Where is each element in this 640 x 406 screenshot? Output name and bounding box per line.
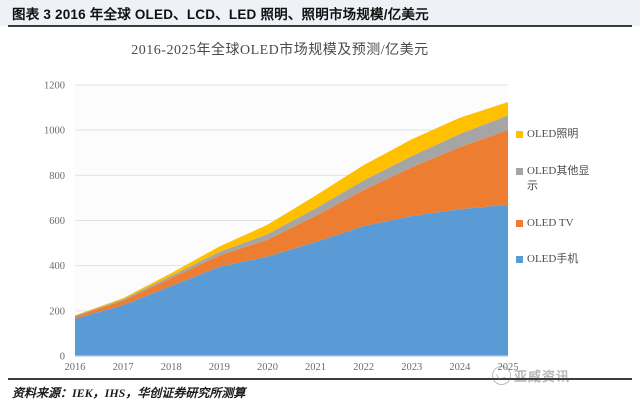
watermark-label: 亚威资讯 <box>514 366 570 385</box>
svg-text:2018: 2018 <box>161 362 182 373</box>
svg-text:600: 600 <box>49 216 65 227</box>
figure-page: 图表 3 2016 年全球 OLED、LCD、LED 照明、照明市场规模/亿美元… <box>0 0 640 406</box>
legend-swatch-icon <box>516 131 523 138</box>
chart-legend: OLED照明 OLED其他显示 OLED TV OLED手机 <box>516 127 638 289</box>
legend-swatch-icon <box>516 256 523 263</box>
legend-label: OLED其他显示 <box>527 164 599 194</box>
svg-text:1200: 1200 <box>44 81 65 92</box>
svg-text:2024: 2024 <box>449 362 471 373</box>
svg-text:400: 400 <box>49 261 65 272</box>
svg-text:2016: 2016 <box>65 362 86 373</box>
svg-text:800: 800 <box>49 171 65 182</box>
svg-text:2022: 2022 <box>353 362 374 373</box>
legend-item-oled-phone[interactable]: OLED手机 <box>516 252 638 267</box>
source-note: 资料来源：IEK，IHS，华创证券研究所测算 <box>12 384 245 401</box>
legend-label: OLED TV <box>527 216 599 231</box>
legend-swatch-icon <box>516 168 523 175</box>
svg-text:1000: 1000 <box>44 126 65 137</box>
legend-item-oled-tv[interactable]: OLED TV <box>516 216 638 231</box>
legend-label: OLED照明 <box>527 127 599 142</box>
figure-caption: 图表 3 2016 年全球 OLED、LCD、LED 照明、照明市场规模/亿美元 <box>12 3 429 23</box>
svg-text:2020: 2020 <box>257 362 278 373</box>
svg-text:2019: 2019 <box>209 362 230 373</box>
legend-item-oled-lighting[interactable]: OLED照明 <box>516 127 638 142</box>
figure-caption-bar: 图表 3 2016 年全球 OLED、LCD、LED 照明、照明市场规模/亿美元 <box>0 0 640 26</box>
circle-check-logo-icon <box>492 366 511 385</box>
chart-container: 2016-2025年全球OLED市场规模及预测/亿美元 020040060080… <box>0 27 640 375</box>
watermark: 亚威资讯 <box>492 366 570 385</box>
svg-text:2023: 2023 <box>401 362 422 373</box>
svg-text:2021: 2021 <box>305 362 326 373</box>
svg-text:0: 0 <box>60 352 65 363</box>
legend-label: OLED手机 <box>527 252 599 267</box>
legend-swatch-icon <box>516 220 523 227</box>
legend-item-oled-other-display[interactable]: OLED其他显示 <box>516 164 638 194</box>
svg-text:200: 200 <box>49 306 65 317</box>
svg-text:2017: 2017 <box>113 362 134 373</box>
